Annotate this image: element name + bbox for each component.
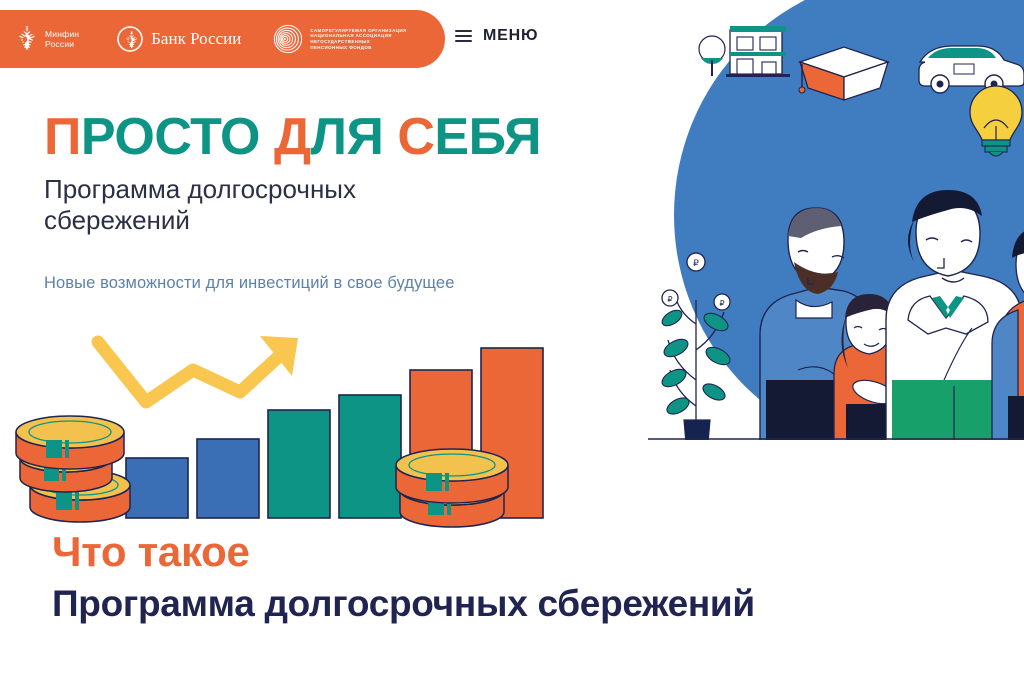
logo-napf-label: САМОРЕГУЛИРУЕМАЯ ОРГАНИЗАЦИЯ НАЦИОНАЛЬНА… [310,28,406,50]
chart-bar-1 [126,458,188,518]
svg-text:₽: ₽ [667,295,672,304]
title-part-3: Д [274,108,311,166]
chart-bar-2 [197,439,259,518]
title-part-6: С [397,108,434,166]
logo-napf-line2: НАЦИОНАЛЬНАЯ АССОЦИАЦИЯ [310,33,392,38]
logo-minfin-label: Минфин России [45,29,79,50]
logo-minfin-line2: России [45,39,74,49]
cbr-eagle-emblem-icon [117,26,143,52]
logo-napf[interactable]: САМОРЕГУЛИРУЕМАЯ ОРГАНИЗАЦИЯ НАЦИОНАЛЬНА… [273,10,406,68]
double-headed-eagle-emblem-icon [12,24,38,54]
page-title: ПРОСТО ДЛЯ СЕБЯ [44,108,664,166]
hamburger-menu-icon[interactable] [455,30,472,42]
family-future-illustration: ₽ ₽ ₽ [648,0,1024,470]
landing-page: Минфин России Банк России [0,0,1024,682]
house-icon [699,26,790,77]
chart-bar-4 [339,395,401,518]
title-part-4: ЛЯ [311,108,384,166]
header-logo-bar: Минфин России Банк России [0,10,445,68]
section-heading-small: Что такое [52,528,812,576]
logo-minfin-line1: Минфин [45,29,79,39]
logo-minfin[interactable]: Минфин России [12,10,79,68]
section-heading-large: Программа долгосрочных сбережений [52,582,812,626]
title-part-0: П [44,108,81,166]
growth-chart-illustration [8,330,568,535]
logo-napf-line1: САМОРЕГУЛИРУЕМАЯ ОРГАНИЗАЦИЯ [310,28,406,33]
hero-subtitle: Программа долгосрочных сбережений [44,174,464,236]
logo-bank-rossii[interactable]: Банк России [117,10,241,68]
coin-stack-right-icon [396,449,508,527]
menu-button-label: МЕНЮ [483,27,538,45]
coin-stack-left-icon [16,416,130,522]
chart-bar-3 [268,410,330,518]
logo-napf-line3: НЕГОСУДАРСТВЕННЫХ [310,39,370,44]
title-space-2 [383,108,397,166]
concentric-spiral-emblem-icon [273,24,303,54]
title-space-1 [260,108,274,166]
svg-text:₽: ₽ [693,258,699,268]
logo-napf-line4: ПЕНСИОННЫХ ФОНДОВ [310,45,371,50]
hero-text-block: ПРОСТО ДЛЯ СЕБЯ Программа долгосрочных с… [44,108,664,293]
svg-text:₽: ₽ [719,299,724,308]
trend-arrow-icon [98,336,298,402]
logo-bank-rossii-label: Банк России [151,30,241,48]
section-heading-block: Что такое Программа долгосрочных сбереже… [52,528,812,626]
menu-button[interactable]: МЕНЮ [455,27,538,45]
title-part-7: ЕБЯ [434,108,541,166]
title-part-1: РОСТО [81,108,260,166]
hero-note: Новые возможности для инвестиций в свое … [44,274,664,293]
